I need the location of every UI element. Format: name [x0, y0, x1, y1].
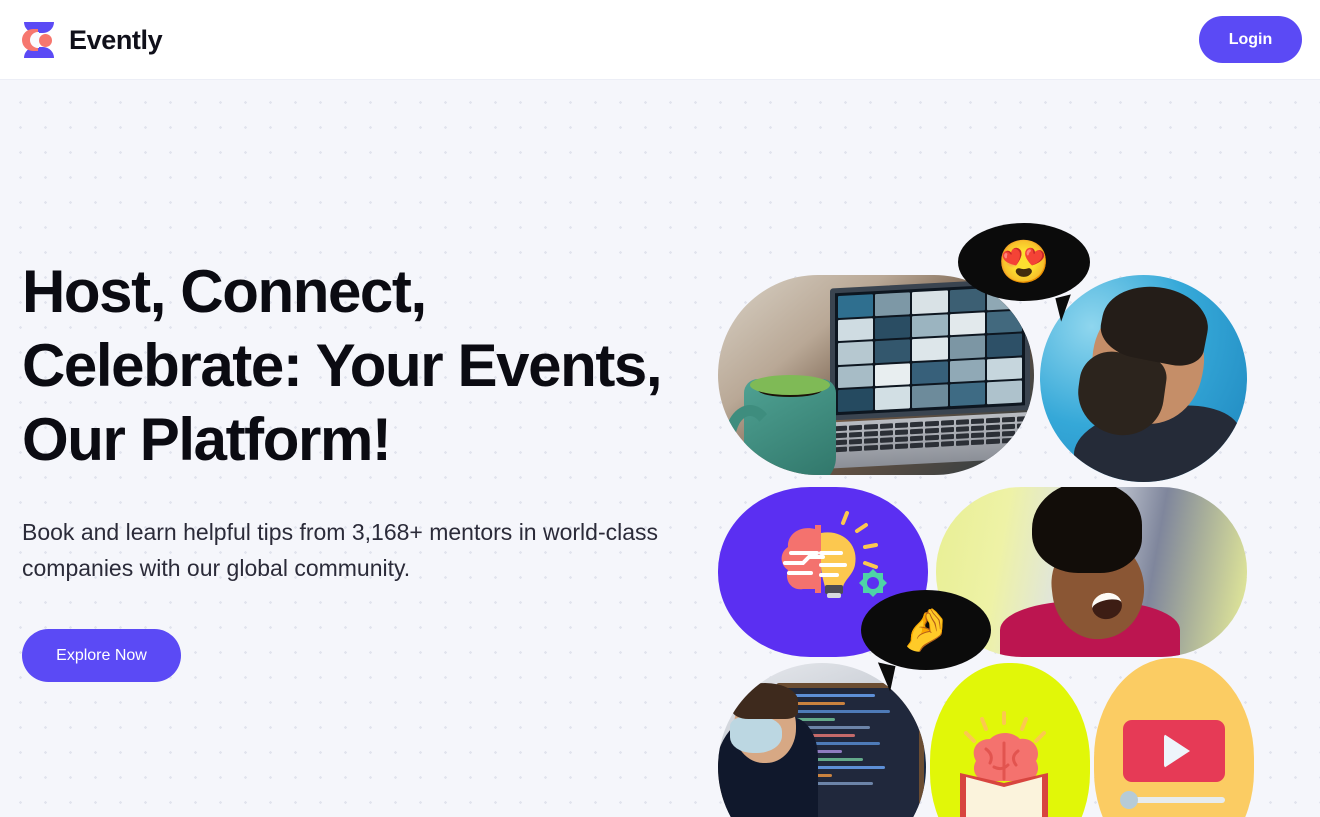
login-button[interactable]: Login — [1199, 16, 1302, 63]
video-progress-track[interactable] — [1123, 797, 1225, 803]
evently-hourglass-logo-icon — [22, 22, 56, 58]
video-call-grid — [830, 278, 1030, 420]
site-header: Evently Login — [0, 0, 1320, 80]
video-player-illustration — [1094, 658, 1254, 817]
video-call-laptop-photo — [718, 275, 1034, 475]
hero-subcopy: Book and learn helpful tips from 3,168+ … — [22, 514, 682, 586]
play-button-icon[interactable] — [1164, 734, 1190, 768]
heart-eyes-emoji-icon: 😍 — [998, 241, 1050, 283]
brain-book-icon — [930, 663, 1090, 817]
coffee-mug-graphic — [744, 379, 836, 475]
brain-book-illustration — [930, 663, 1090, 817]
explore-now-button[interactable]: Explore Now — [22, 629, 181, 682]
reaction-bubble-heart-eyes: 😍 — [958, 223, 1090, 301]
reaction-bubble-pinched-fingers: 🤌 — [861, 590, 991, 670]
laptop-keyboard — [824, 411, 1034, 468]
hero-copy: Host, Connect, Celebrate: Your Events, O… — [22, 255, 682, 682]
code-mentoring-photo — [718, 663, 926, 817]
hero-image-collage: 😍 — [718, 140, 1253, 817]
page-title: Host, Connect, Celebrate: Your Events, O… — [22, 255, 682, 477]
brand-name: Evently — [69, 25, 162, 56]
laptop-graphic — [830, 277, 1034, 475]
video-progress-knob[interactable] — [1120, 791, 1138, 809]
hero-section: Host, Connect, Celebrate: Your Events, O… — [0, 80, 1320, 817]
brand-logo-link[interactable]: Evently — [22, 0, 162, 80]
pinched-fingers-emoji-icon: 🤌 — [900, 609, 952, 651]
video-frame-graphic — [1123, 720, 1225, 782]
